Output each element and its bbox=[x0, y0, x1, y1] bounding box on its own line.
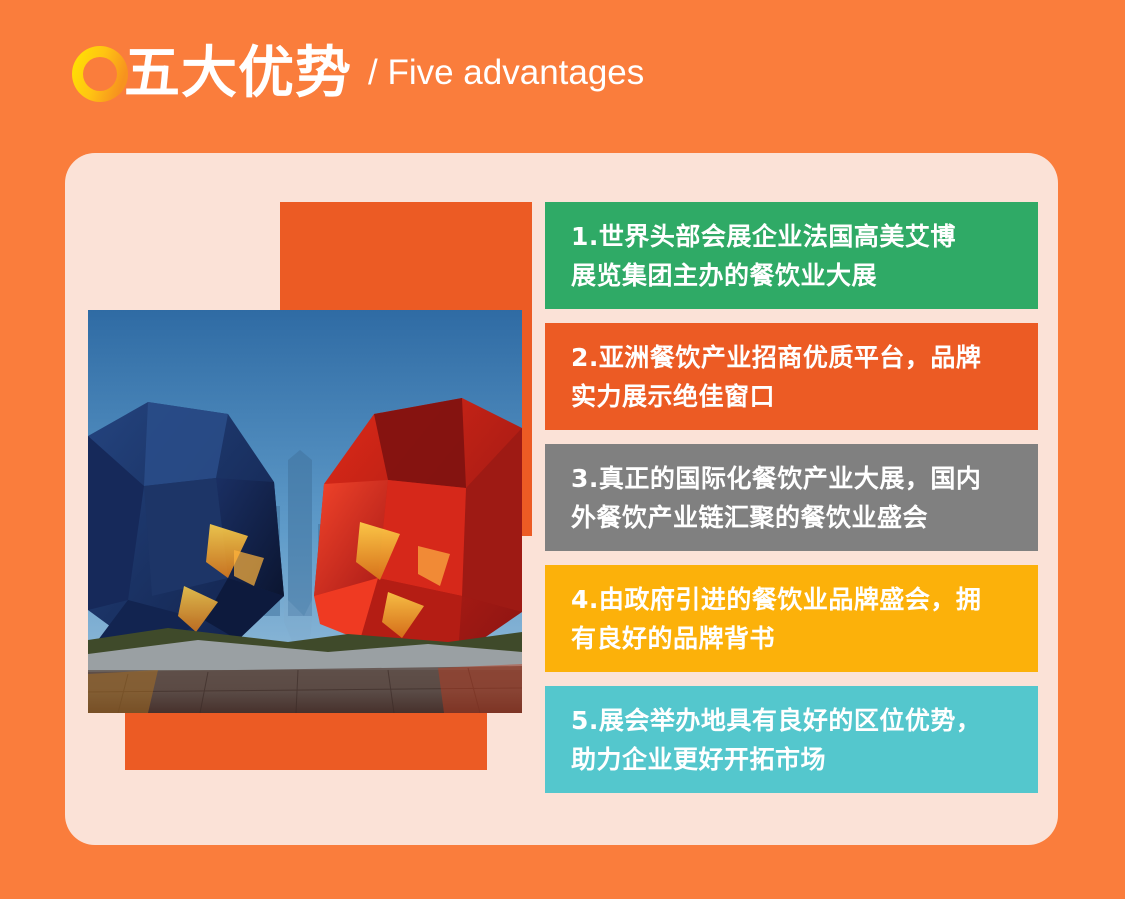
advantage-panel-4[interactable]: 4.由政府引进的餐饮业品牌盛会，拥 有良好的品牌背书 bbox=[545, 565, 1038, 672]
page-header: 五大优势 / Five advantages bbox=[64, 28, 644, 120]
advantage-panel-2[interactable]: 2.亚洲餐饮产业招商优质平台，品牌 实力展示绝佳窗口 bbox=[545, 323, 1038, 430]
advantage-1-line-1: 1.世界头部会展企业法国高美艾博 bbox=[571, 217, 1012, 256]
advantage-4-line-1: 4.由政府引进的餐饮业品牌盛会，拥 bbox=[571, 580, 1012, 619]
poster-root: 五大优势 / Five advantages bbox=[0, 0, 1125, 899]
heart-shaped-sculpture-photo bbox=[88, 310, 522, 713]
media-composition bbox=[65, 153, 545, 845]
advantage-2-line-1: 2.亚洲餐饮产业招商优质平台，品牌 bbox=[571, 338, 1012, 377]
advantage-2-line-2: 实力展示绝佳窗口 bbox=[571, 377, 1012, 416]
advantage-panel-5[interactable]: 5.展会举办地具有良好的区位优势， 助力企业更好开拓市场 bbox=[545, 686, 1038, 793]
advantage-panel-3[interactable]: 3.真正的国际化餐饮产业大展，国内 外餐饮产业链汇聚的餐饮业盛会 bbox=[545, 444, 1038, 551]
advantage-1-line-2: 展览集团主办的餐饮业大展 bbox=[571, 256, 1012, 295]
advantage-3-line-2: 外餐饮产业链汇聚的餐饮业盛会 bbox=[571, 498, 1012, 537]
advantage-3-line-1: 3.真正的国际化餐饮产业大展，国内 bbox=[571, 459, 1012, 498]
page-title-en: / Five advantages bbox=[368, 55, 644, 94]
page-title-cn: 五大优势 bbox=[124, 46, 352, 102]
advantages-card: 1.世界头部会展企业法国高美艾博 展览集团主办的餐饮业大展 2.亚洲餐饮产业招商… bbox=[65, 153, 1058, 845]
advantage-4-line-2: 有良好的品牌背书 bbox=[571, 619, 1012, 658]
advantage-5-line-2: 助力企业更好开拓市场 bbox=[571, 740, 1012, 779]
advantage-panel-1[interactable]: 1.世界头部会展企业法国高美艾博 展览集团主办的餐饮业大展 bbox=[545, 202, 1038, 309]
ring-c-logo-icon bbox=[64, 38, 136, 110]
advantages-panel-list: 1.世界头部会展企业法国高美艾博 展览集团主办的餐饮业大展 2.亚洲餐饮产业招商… bbox=[545, 202, 1038, 793]
advantage-5-line-1: 5.展会举办地具有良好的区位优势， bbox=[571, 701, 1012, 740]
decor-block-bottom bbox=[125, 713, 487, 770]
